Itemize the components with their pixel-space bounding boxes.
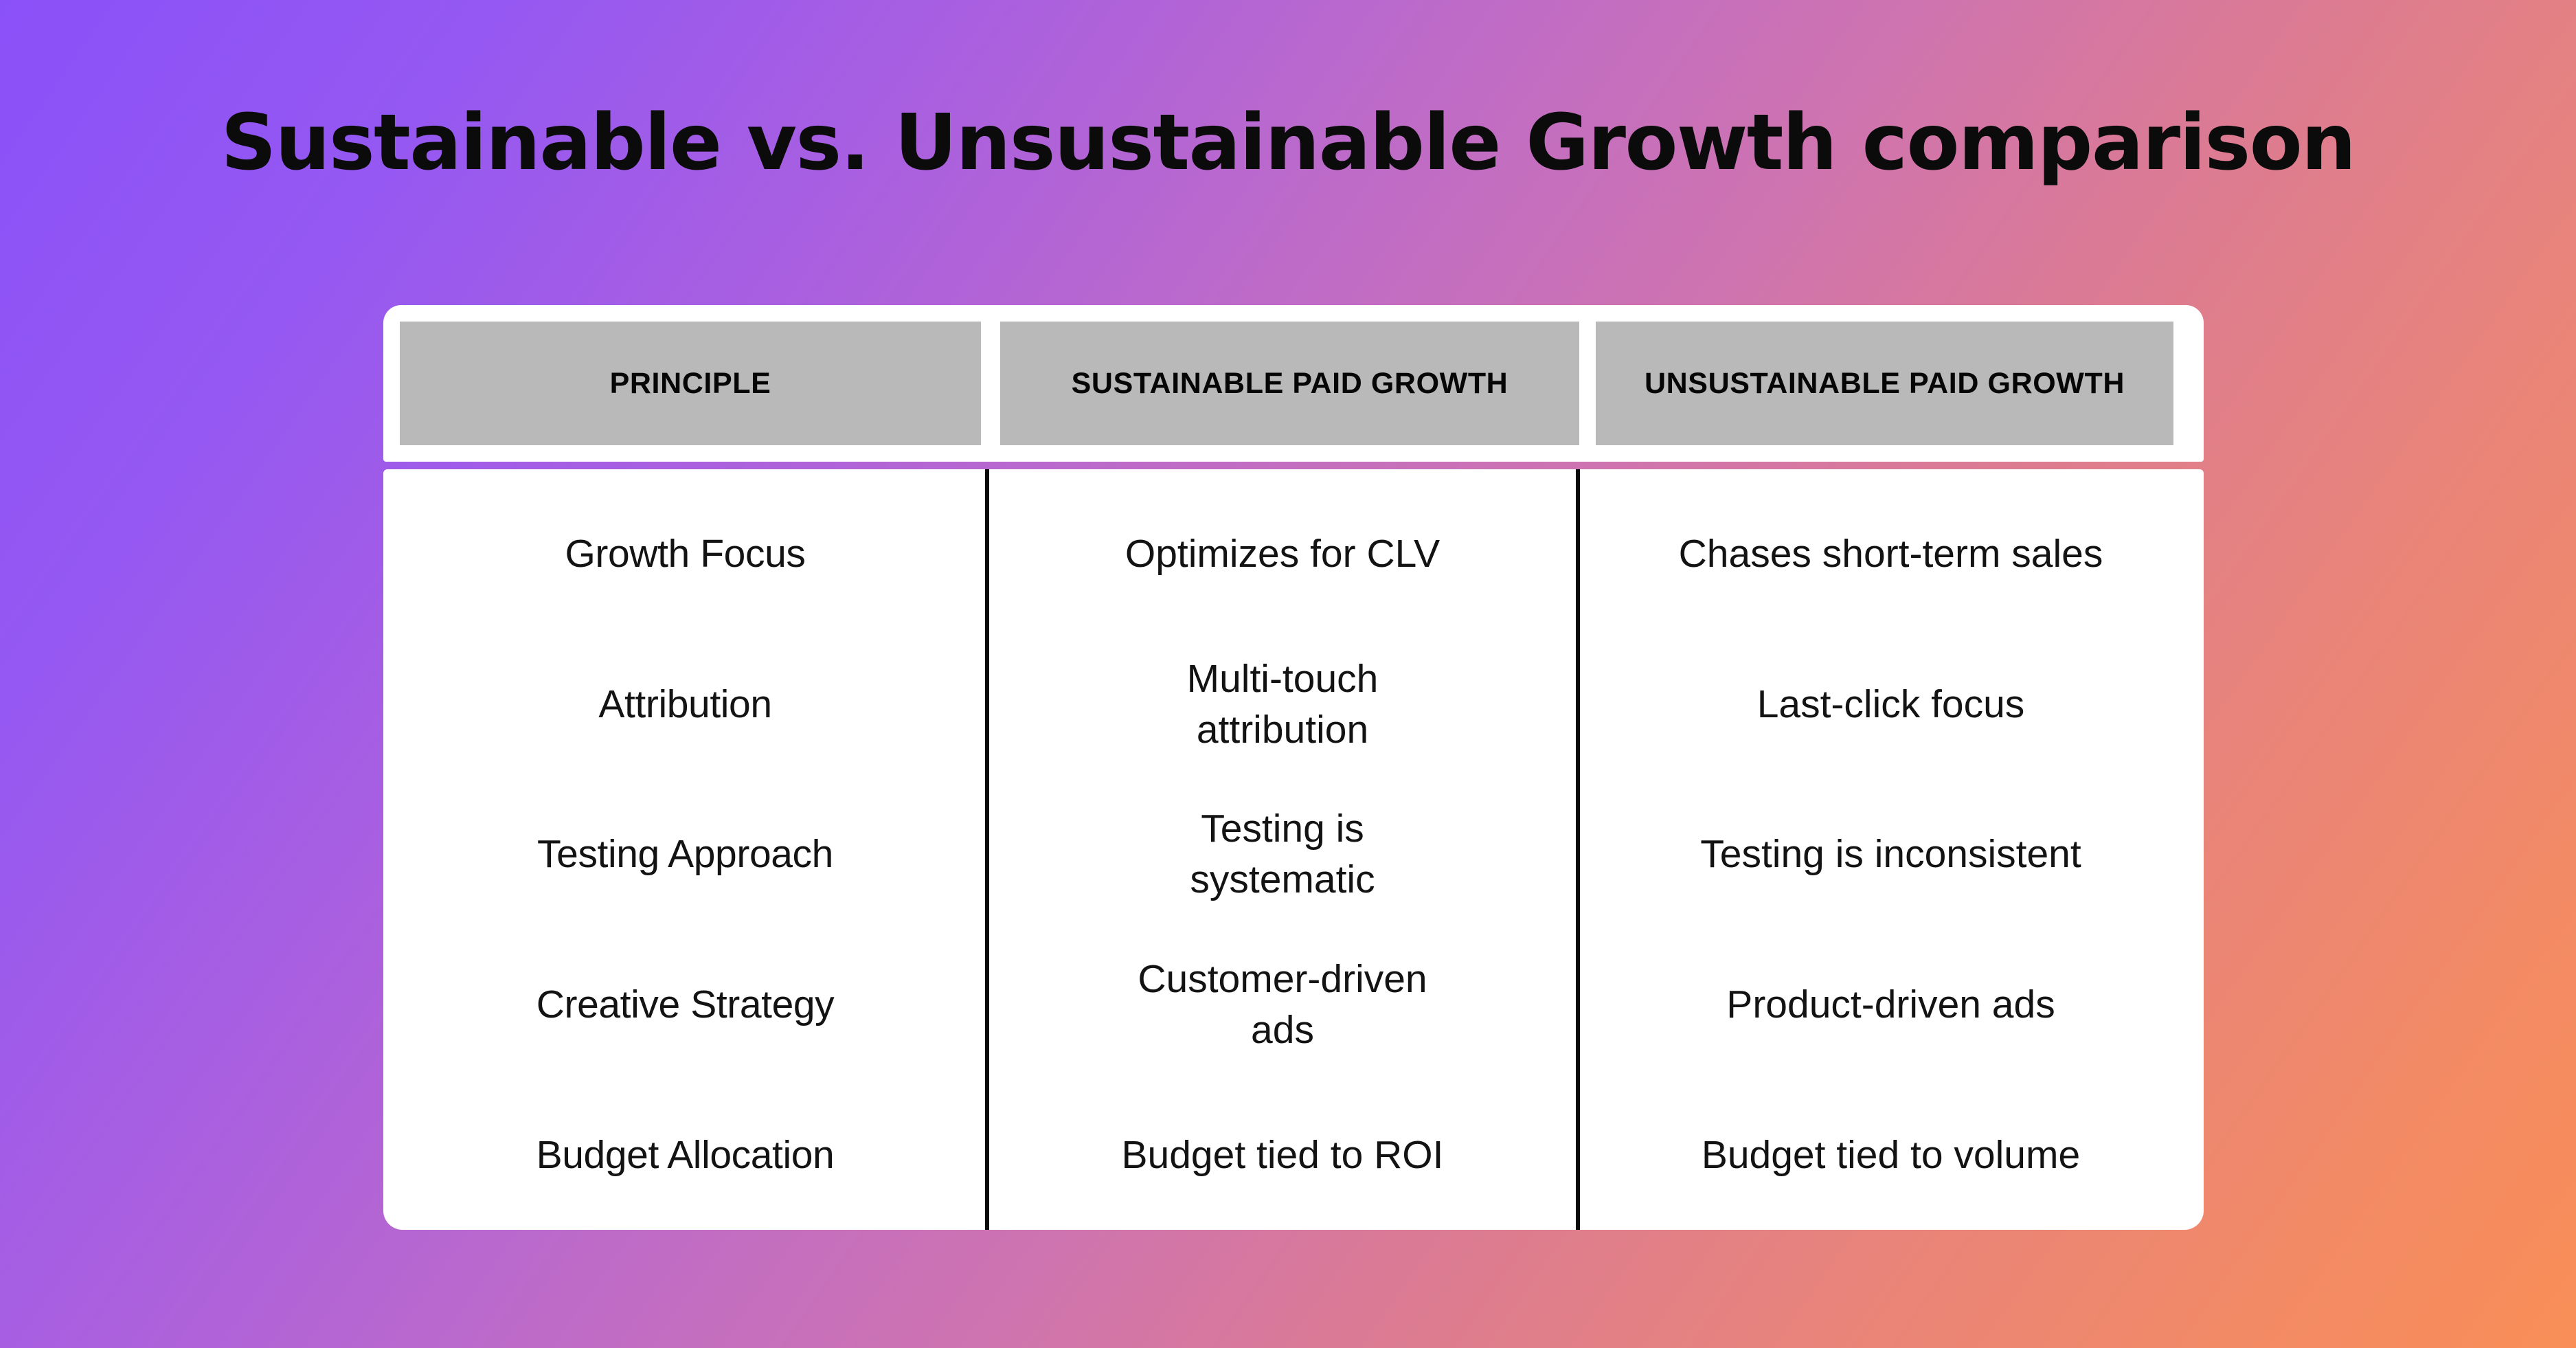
cell-unsustainable: Last-click focus <box>1757 679 2025 730</box>
cell-unsustainable: Product-driven ads <box>1726 979 2055 1030</box>
table-row: Creative Strategy <box>383 930 987 1080</box>
cell-sustainable: Multi-touch attribution <box>1118 653 1447 755</box>
column-header-sustainable-label: SUSTAINABLE PAID GROWTH <box>1072 366 1509 401</box>
cell-principle: Creative Strategy <box>536 979 835 1030</box>
page-title: Sustainable vs. Unsustainable Growth com… <box>0 102 2576 185</box>
cell-principle: Budget Allocation <box>536 1130 835 1180</box>
table-row: Growth Focus <box>383 479 987 629</box>
column-header-principle-label: PRINCIPLE <box>610 366 771 401</box>
comparison-table-body-panel: Growth Focus Optimizes for CLV Chases sh… <box>383 469 2204 1230</box>
cell-unsustainable: Chases short-term sales <box>1679 528 2103 579</box>
table-row: Testing is inconsistent <box>1578 779 2204 930</box>
cell-sustainable: Testing is systematic <box>1118 803 1447 905</box>
cell-unsustainable: Budget tied to volume <box>1702 1130 2080 1180</box>
column-header-sustainable: SUSTAINABLE PAID GROWTH <box>1000 322 1579 445</box>
table-row: Testing Approach <box>383 779 987 930</box>
table-row: Budget tied to ROI <box>987 1079 1578 1230</box>
table-row: Chases short-term sales <box>1578 479 2204 629</box>
table-row: Optimizes for CLV <box>987 479 1578 629</box>
cell-sustainable: Optimizes for CLV <box>1125 528 1440 579</box>
cell-principle: Growth Focus <box>565 528 806 579</box>
table-row: Budget Allocation <box>383 1079 987 1230</box>
table-row: Testing is systematic <box>987 779 1578 930</box>
comparison-table-grid: Growth Focus Optimizes for CLV Chases sh… <box>383 469 2204 1230</box>
table-row: Budget tied to volume <box>1578 1079 2204 1230</box>
table-row: Customer-driven ads <box>987 930 1578 1080</box>
comparison-table-header-panel: PRINCIPLE SUSTAINABLE PAID GROWTH UNSUST… <box>383 305 2204 462</box>
cell-sustainable: Customer-driven ads <box>1118 954 1447 1055</box>
cell-principle: Attribution <box>598 679 771 730</box>
table-row: Last-click focus <box>1578 629 2204 780</box>
column-header-unsustainable: UNSUSTAINABLE PAID GROWTH <box>1596 322 2173 445</box>
column-header-principle: PRINCIPLE <box>400 322 981 445</box>
cell-unsustainable: Testing is inconsistent <box>1700 829 2081 879</box>
table-row: Multi-touch attribution <box>987 629 1578 780</box>
column-header-unsustainable-label: UNSUSTAINABLE PAID GROWTH <box>1645 366 2125 401</box>
table-row: Attribution <box>383 629 987 780</box>
table-row: Product-driven ads <box>1578 930 2204 1080</box>
cell-principle: Testing Approach <box>537 829 833 879</box>
slide-canvas: Sustainable vs. Unsustainable Growth com… <box>0 0 2576 1348</box>
cell-sustainable: Budget tied to ROI <box>1122 1130 1444 1180</box>
